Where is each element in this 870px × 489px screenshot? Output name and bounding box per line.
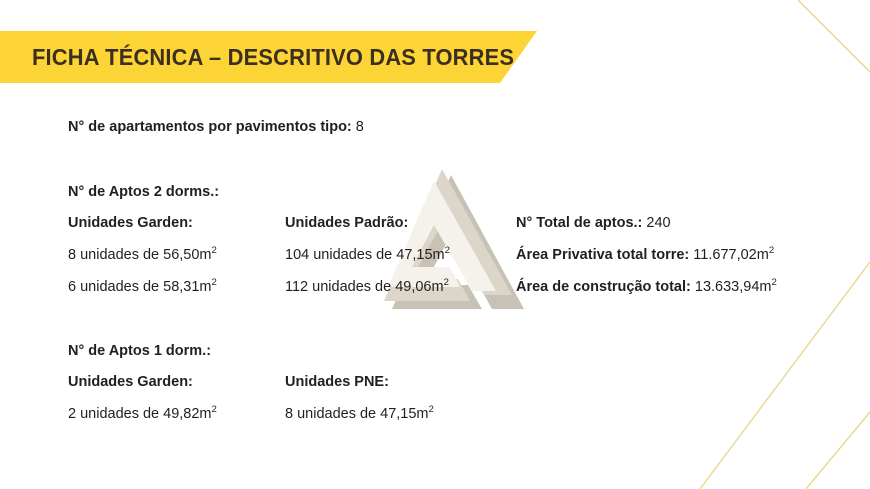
total-aptos-value: 240 [646,215,670,231]
col1-1dorm-row-1-qty: 2 [68,406,76,422]
total-aptos-label: N° Total de aptos.: [516,215,642,231]
col1-row-2-text: unidades de 58,31m [80,279,211,295]
col1-row-1-text: unidades de 56,50m [80,247,211,263]
col1-row-1: 8 unidades de 56,50m2 [68,246,217,264]
col1-header-1dorm: Unidades Garden: [68,373,193,391]
col1-row-2: 6 unidades de 58,31m2 [68,278,217,296]
col2-row-1-qty: 104 [285,247,309,263]
total-aptos-line: N° Total de aptos.: 240 [516,214,671,232]
col1-row-2-sup: 2 [212,277,217,288]
col2-row-1-text: unidades de 47,15m [313,247,444,263]
col2-row-2-sup: 2 [444,277,449,288]
section-1dorm-heading: N° de Aptos 1 dorm.: [68,342,211,360]
col2-row-2-text: unidades de 49,06m [312,279,443,295]
area-construcao-sup: 2 [771,277,776,288]
col1-row-2-qty: 6 [68,279,76,295]
col1-header-2dorms: Unidades Garden: [68,214,193,232]
col2-1dorm-row-1: 8 unidades de 47,15m2 [285,405,434,423]
area-privativa-line: Área Privativa total torre: 11.677,02m2 [516,246,774,264]
col2-1dorm-row-1-sup: 2 [429,404,434,415]
col1-1dorm-row-1-sup: 2 [212,404,217,415]
col2-row-1-sup: 2 [445,245,450,256]
col2-row-1: 104 unidades de 47,15m2 [285,246,450,264]
intro-value: 8 [356,119,364,135]
content-area: N° de apartamentos por pavimentos tipo: … [0,0,870,489]
intro-line: N° de apartamentos por pavimentos tipo: … [68,118,364,136]
area-privativa-value: 11.677,02m [693,247,769,263]
col2-row-2: 112 unidades de 49,06m2 [285,278,449,296]
area-construcao-label: Área de construção total: [516,279,691,295]
section-2dorms-heading: N° de Aptos 2 dorms.: [68,183,219,201]
col2-header-1dorm: Unidades PNE: [285,373,389,391]
col2-1dorm-row-1-text: unidades de 47,15m [297,406,428,422]
area-privativa-sup: 2 [769,245,774,256]
area-construcao-value: 13.633,94m [695,279,772,295]
area-privativa-label: Área Privativa total torre: [516,247,689,263]
col2-row-2-qty: 112 [285,279,308,295]
col1-row-1-qty: 8 [68,247,76,263]
slide-root: FICHA TÉCNICA – DESCRITIVO DAS TORRES N°… [0,0,870,489]
col1-row-1-sup: 2 [212,245,217,256]
intro-label: N° de apartamentos por pavimentos tipo: [68,119,352,135]
col1-1dorm-row-1: 2 unidades de 49,82m2 [68,405,217,423]
col2-header-2dorms: Unidades Padrão: [285,214,408,232]
col2-1dorm-row-1-qty: 8 [285,406,293,422]
area-construcao-line: Área de construção total: 13.633,94m2 [516,278,777,296]
col1-1dorm-row-1-text: unidades de 49,82m [80,406,211,422]
